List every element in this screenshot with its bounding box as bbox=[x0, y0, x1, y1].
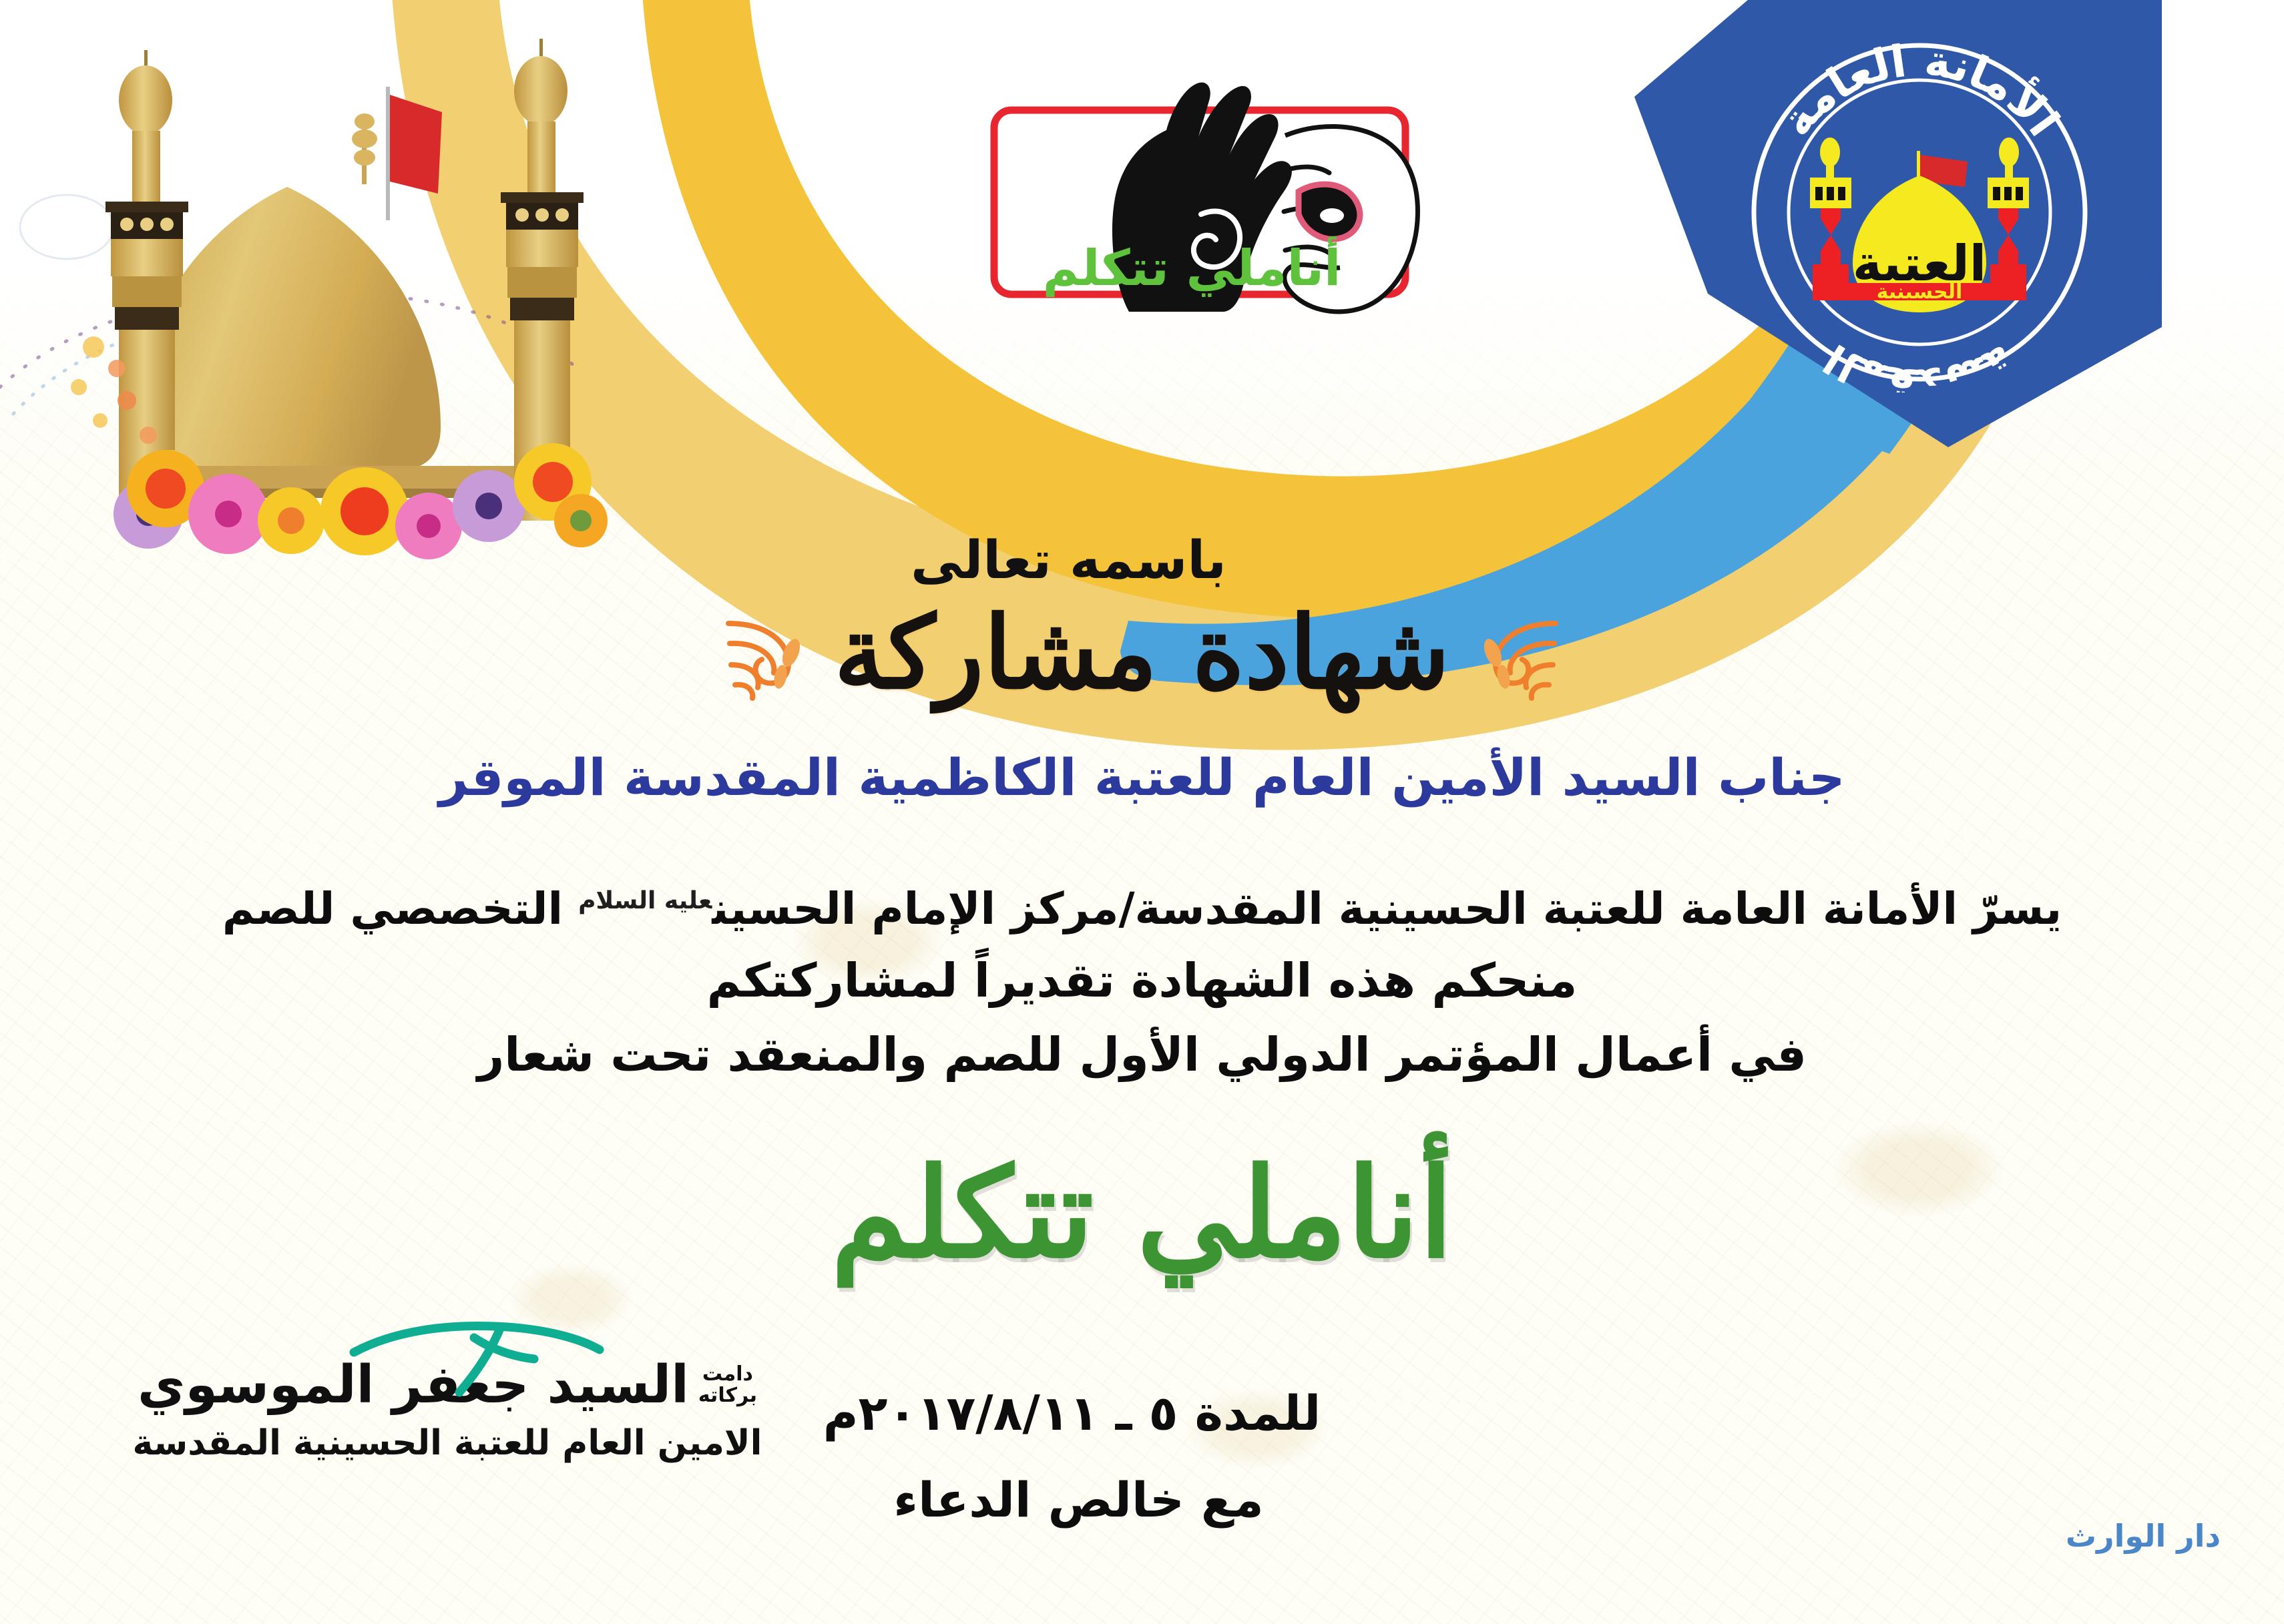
closing-line: مع خالص الدعاء bbox=[0, 1472, 2284, 1528]
conference-slogan: أناملي تتكلم bbox=[0, 1151, 2284, 1275]
certificate-body: يسرّ الأمانة العامة للعتبة الحسينية المق… bbox=[0, 874, 2284, 1091]
anamili-tatakallam-logo: أناملي تتكلم bbox=[971, 37, 1452, 344]
page-title: شهادة مشاركة bbox=[834, 601, 1449, 706]
seal-base-text: الحسينية bbox=[1877, 280, 1963, 304]
signatory-role: الامين العام للعتبة الحسينية المقدسة bbox=[113, 1423, 781, 1463]
body-line-2: منحكم هذه الشهادة تقديراً لمشاركتكم bbox=[0, 944, 2284, 1018]
body-line-1-head: يسرّ الأمانة العامة للعتبة الحسينية المق… bbox=[712, 883, 2062, 934]
svg-text:الأمانة العامة: الأمانة العامة bbox=[1771, 35, 2070, 146]
honorific-sallam: عليه السلام bbox=[578, 887, 712, 914]
seal-top-text: الأمانة العامة bbox=[1771, 35, 2070, 146]
blessing-top: دامت bbox=[698, 1364, 757, 1385]
signature-blessing: دامت بركاته bbox=[698, 1364, 757, 1407]
recipient-line: جناب السيد الأمين العام للعتبة الكاظمية … bbox=[0, 748, 2284, 807]
certificate-title-row: شهادة مشاركة bbox=[0, 601, 2284, 706]
signature-block: دامت بركاته السيد جعفر الموسوي الامين ال… bbox=[113, 1355, 781, 1463]
body-line-1-tail: التخصصي للصم bbox=[222, 883, 563, 934]
printer-watermark: دار الوارث bbox=[2043, 1521, 2243, 1574]
flourish-left-icon bbox=[1469, 603, 1569, 704]
dome-finial bbox=[352, 113, 377, 184]
flourish-right-icon bbox=[715, 603, 815, 704]
seal-minaret-left bbox=[1810, 138, 1851, 283]
body-line-3: في أعمال المؤتمر الدولي الأول للصم والمن… bbox=[0, 1018, 2284, 1092]
shrine-red-flag bbox=[386, 87, 442, 220]
certificate-page: الأمانة العامة المقدسة bbox=[0, 0, 2284, 1624]
seal-minaret-right bbox=[1988, 138, 2029, 283]
logo-caption: أناملي تتكلم bbox=[1043, 236, 1341, 297]
shrine-dome bbox=[134, 87, 541, 498]
al-ataba-al-husayniya-seal-icon: الأمانة العامة المقدسة bbox=[1719, 19, 2120, 392]
handwritten-signature-icon bbox=[334, 1308, 614, 1408]
body-line-1: يسرّ الأمانة العامة للعتبة الحسينية المق… bbox=[0, 874, 2284, 944]
basmala-line: باسمه تعالى bbox=[0, 531, 2284, 591]
blessing-bottom: بركاته bbox=[698, 1385, 757, 1406]
printer-name: دار الوارث bbox=[2043, 1521, 2243, 1551]
